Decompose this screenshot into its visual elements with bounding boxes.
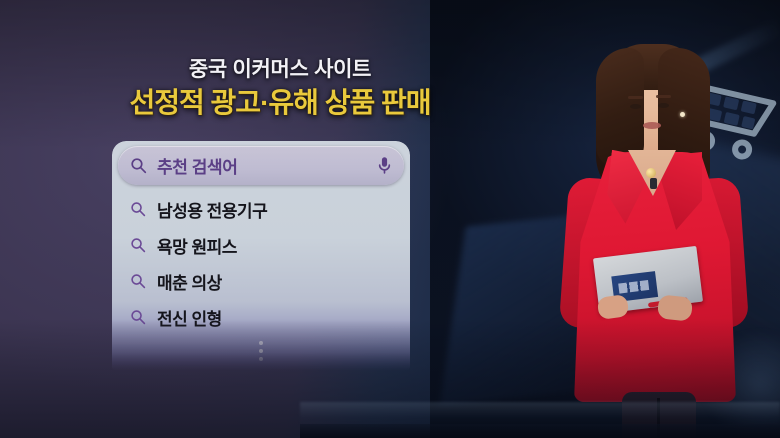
list-item-label: 욕망 원피스	[157, 233, 237, 258]
suggestion-list: 남성용 전용기구 욕망 원피스 매춘 의상	[112, 191, 410, 335]
list-item[interactable]: 욕망 원피스	[112, 227, 410, 263]
anchor-lips	[643, 122, 661, 129]
anchor-brow-right	[656, 95, 671, 98]
lapel-microphone-icon	[650, 178, 657, 189]
anchor-eye-right	[658, 103, 669, 108]
search-icon	[130, 157, 147, 174]
list-item-label: 매춘 의상	[157, 269, 222, 294]
list-item[interactable]: 매춘 의상	[112, 263, 410, 299]
background-bottom-shade	[0, 318, 780, 438]
list-item-label: 남성용 전용기구	[157, 197, 267, 222]
search-icon	[130, 237, 146, 253]
anchor-earring	[680, 112, 685, 117]
search-input-value: 추천 검색어	[157, 153, 377, 178]
microphone-icon[interactable]	[377, 156, 392, 175]
list-item[interactable]: 남성용 전용기구	[112, 191, 410, 227]
anchor-brow-left	[628, 96, 643, 99]
search-icon	[130, 201, 146, 217]
search-input[interactable]: 추천 검색어	[118, 146, 404, 185]
anchor-necklace	[646, 168, 656, 178]
search-icon	[130, 273, 146, 289]
anchor-eye-left	[630, 104, 641, 109]
broadcast-news-screenshot: 중국 이커머스 사이트 선정적 광고·유해 상품 판매 추천 검색어	[0, 0, 780, 438]
